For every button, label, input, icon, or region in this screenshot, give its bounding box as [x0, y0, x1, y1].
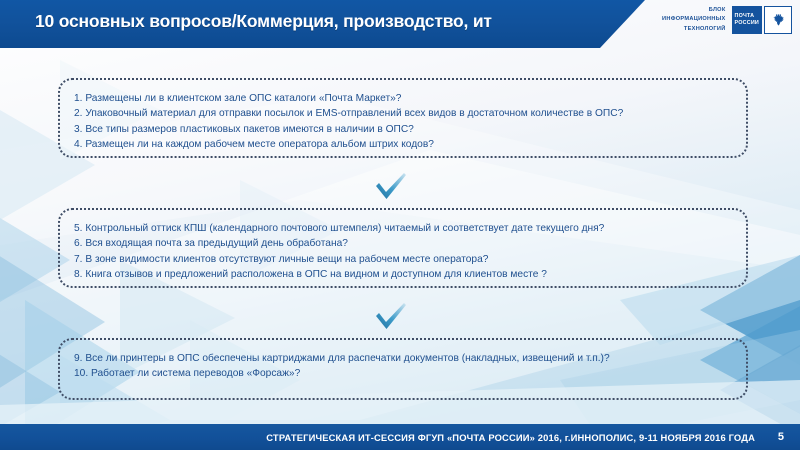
- post-russia-wordmark: ПОЧТА РОССИИ: [732, 6, 762, 34]
- eagle-emblem-box: [764, 6, 792, 34]
- post-russia-wordmark-line-2: РОССИИ: [735, 20, 759, 27]
- question-box-3: 9. Все ли принтеры в ОПС обеспечены карт…: [58, 338, 748, 400]
- question-line: 6. Вся входящая почта за предыдущий день…: [74, 236, 732, 251]
- logo-subtitle-line-3: ТЕХНОЛОГИЙ: [662, 25, 726, 34]
- checkmark-icon: [374, 172, 408, 202]
- post-russia-wordmark-line-1: ПОЧТА: [735, 13, 759, 20]
- checkmark-icon: [374, 302, 408, 332]
- question-line: 2. Упаковочный материал для отправки пос…: [74, 106, 732, 121]
- footer-text: СТРАТЕГИЧЕСКАЯ ИТ-СЕССИЯ ФГУП «ПОЧТА РОС…: [0, 424, 755, 450]
- page-number: 5: [778, 424, 784, 450]
- question-line: 8. Книга отзывов и предложений расположе…: [74, 267, 732, 282]
- question-box-2: 5. Контрольный оттиск КПШ (календарного …: [58, 208, 748, 288]
- double-headed-eagle-icon: [769, 11, 788, 30]
- footer-band: СТРАТЕГИЧЕСКАЯ ИТ-СЕССИЯ ФГУП «ПОЧТА РОС…: [0, 424, 800, 450]
- logo-marks: ПОЧТА РОССИИ: [732, 6, 792, 34]
- question-line: 9. Все ли принтеры в ОПС обеспечены карт…: [74, 351, 732, 366]
- question-line: 7. В зоне видимости клиентов отсутствуют…: [74, 252, 732, 267]
- page-title: 10 основных вопросов/Коммерция, производ…: [35, 11, 610, 32]
- question-line: 5. Контрольный оттиск КПШ (календарного …: [74, 221, 732, 236]
- logo-subtitle-line-1: БЛОК: [662, 6, 726, 15]
- brand-logo: БЛОК ИНФОРМАЦИОННЫХ ТЕХНОЛОГИЙ ПОЧТА РОС…: [662, 6, 792, 34]
- logo-subtitle-line-2: ИНФОРМАЦИОННЫХ: [662, 15, 726, 24]
- question-box-1: 1. Размещены ли в клиентском зале ОПС ка…: [58, 78, 748, 158]
- question-line: 10. Работает ли система переводов «Форса…: [74, 366, 732, 381]
- logo-subtitle: БЛОК ИНФОРМАЦИОННЫХ ТЕХНОЛОГИЙ: [662, 6, 726, 34]
- question-line: 1. Размещены ли в клиентском зале ОПС ка…: [74, 91, 732, 106]
- slide-canvas: 10 основных вопросов/Коммерция, производ…: [0, 0, 800, 450]
- question-line: 4. Размещен ли на каждом рабочем месте о…: [74, 137, 732, 152]
- question-line: 3. Все типы размеров пластиковых пакетов…: [74, 122, 732, 137]
